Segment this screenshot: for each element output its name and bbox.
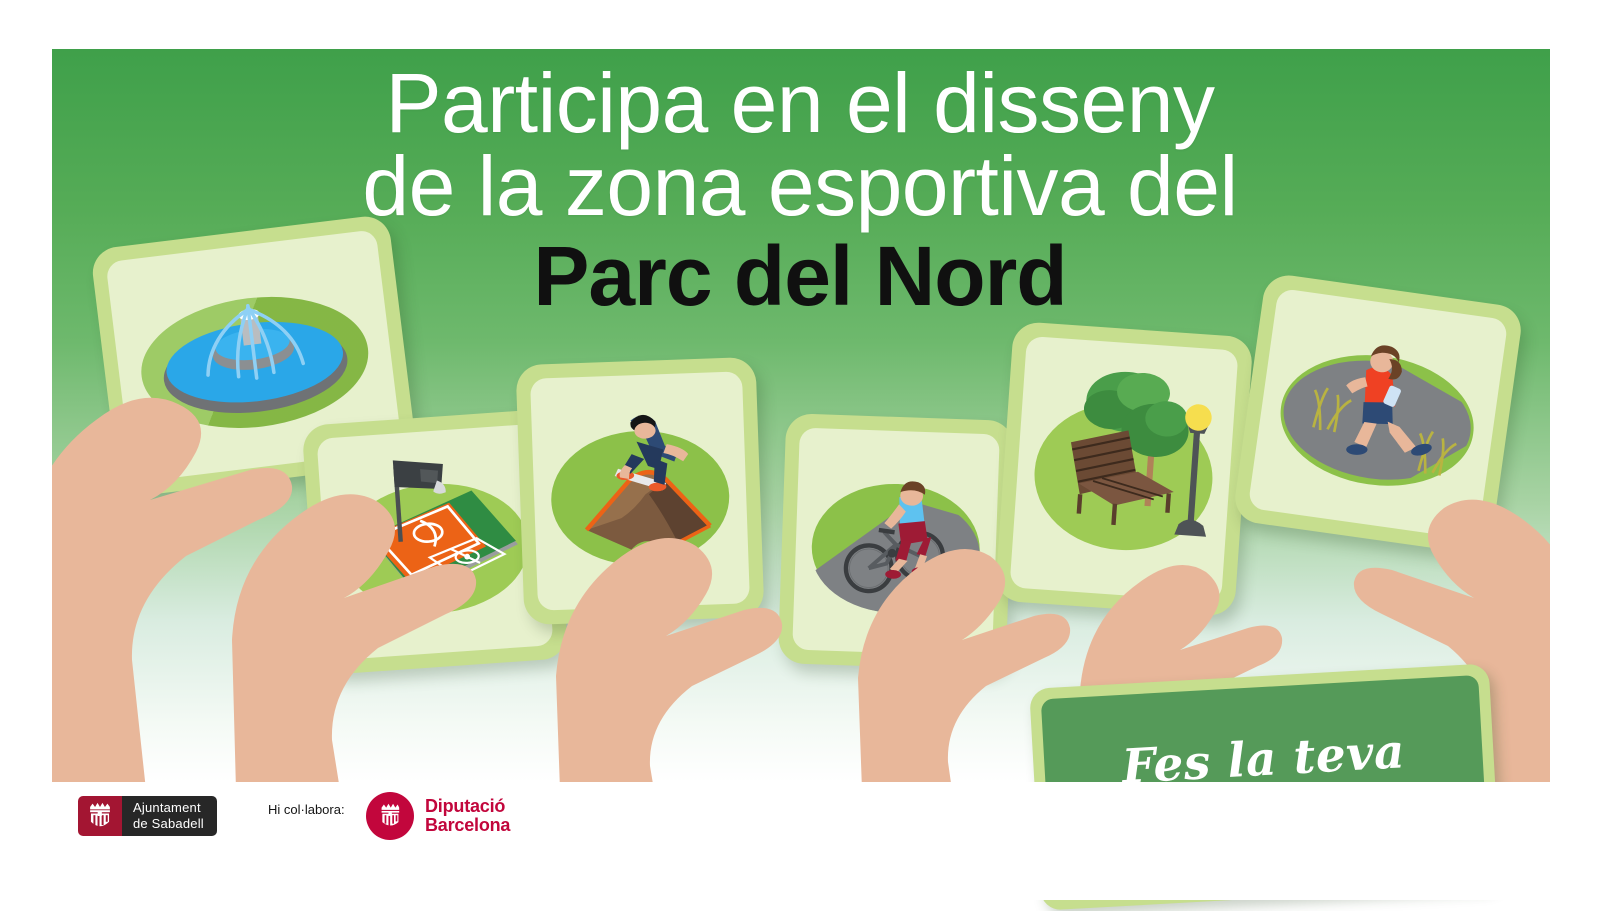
hand-third <box>556 538 782 782</box>
logo-ajuntament-sabadell[interactable]: Ajuntament de Sabadell <box>78 796 217 836</box>
hand-second <box>232 494 476 782</box>
diputacio-line-2: Barcelona <box>425 816 510 835</box>
sabadell-line-1: Ajuntament <box>133 800 204 816</box>
diputacio-crest-icon <box>366 792 414 840</box>
diputacio-line-1: Diputació <box>425 797 510 816</box>
sabadell-line-2: de Sabadell <box>133 816 204 832</box>
collaborator-label: Hi col·labora: <box>268 802 345 817</box>
footer-logos: Ajuntament de Sabadell Hi col·labora: <box>0 782 1600 900</box>
poster-canvas: Participa en el disseny de la zona espor… <box>0 0 1600 900</box>
diputacio-name-plate: Diputació Barcelona <box>425 797 510 836</box>
sabadell-name-plate: Ajuntament de Sabadell <box>122 796 217 836</box>
logo-diputacio-barcelona[interactable]: Diputació Barcelona <box>366 792 510 840</box>
sabadell-crest-icon <box>78 796 122 836</box>
